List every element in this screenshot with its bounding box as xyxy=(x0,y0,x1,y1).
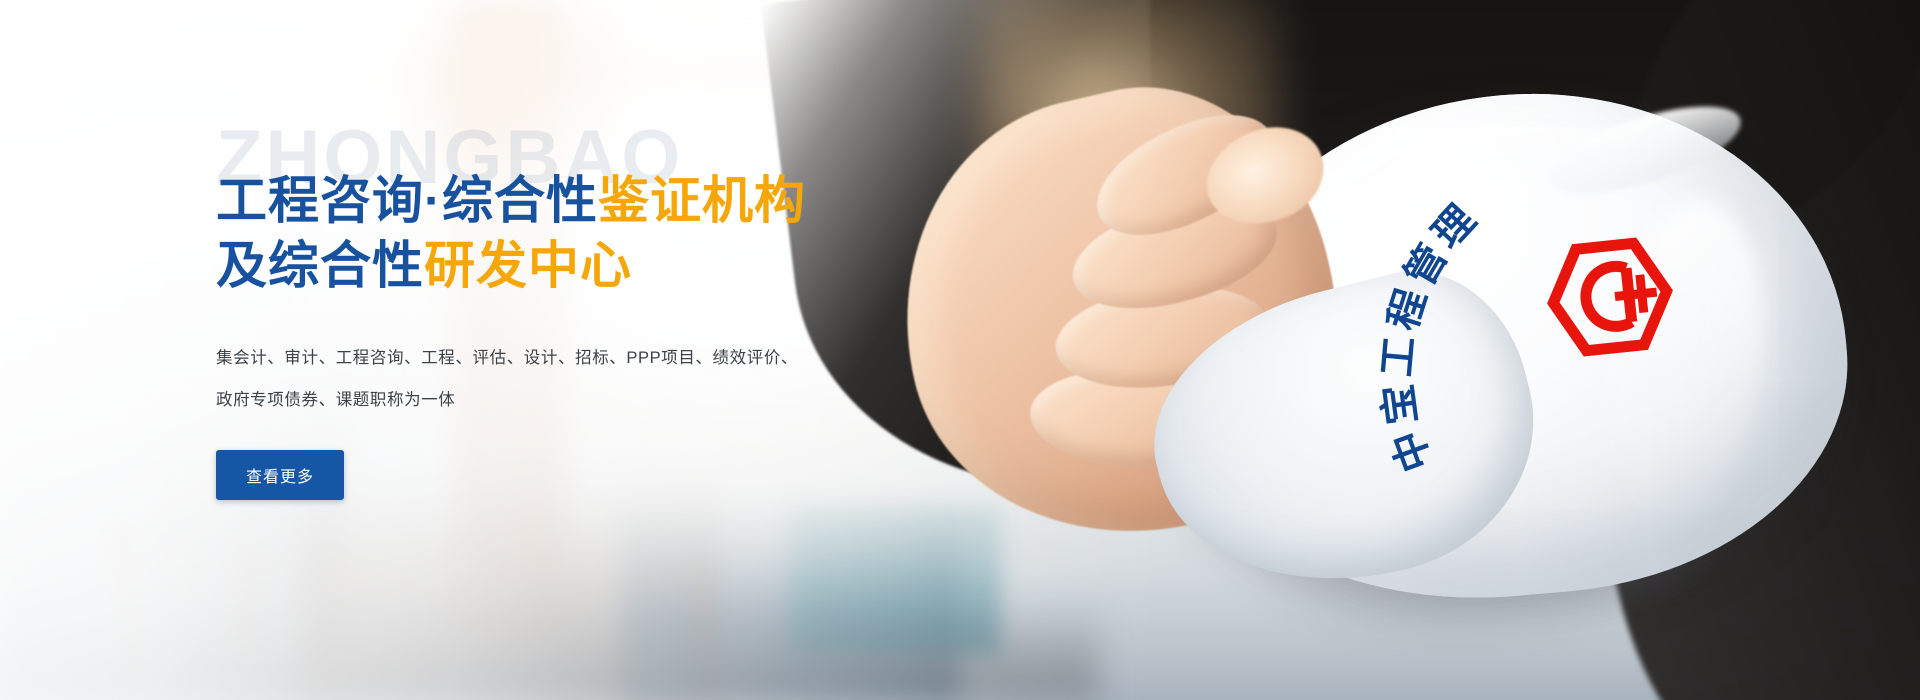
headline-line-1-blue: 工程咨询·综合性 xyxy=(216,172,598,229)
hero-banner: 中宝工程管理 ZHONGBAO 工程咨询·综合性鉴证机构 及综合性研发中心 xyxy=(0,0,1920,700)
headline-line-2-orange: 研发中心 xyxy=(424,237,632,294)
headline-line-2-blue: 及综合性 xyxy=(216,237,424,294)
headline: 工程咨询·综合性鉴证机构 及综合性研发中心 xyxy=(216,168,896,299)
headline-line-2: 及综合性研发中心 xyxy=(216,233,896,298)
svg-text:中宝工程管理: 中宝工程管理 xyxy=(1363,192,1505,479)
subtitle: 集会计、审计、工程咨询、工程、评估、设计、招标、PPP项目、绩效评价、 政府专项… xyxy=(216,337,896,423)
subtitle-line-2: 政府专项债券、课题职称为一体 xyxy=(216,379,896,422)
headline-line-1-orange: 鉴证机构 xyxy=(598,172,806,229)
hero-text-block: ZHONGBAO 工程咨询·综合性鉴证机构 及综合性研发中心 集会计、审计、工程… xyxy=(216,120,896,500)
view-more-button[interactable]: 查看更多 xyxy=(216,450,344,500)
subtitle-line-1: 集会计、审计、工程咨询、工程、评估、设计、招标、PPP项目、绩效评价、 xyxy=(216,337,896,380)
helmet-brand-textpath: 中宝工程管理 xyxy=(1363,192,1505,479)
headline-line-1: 工程咨询·综合性鉴证机构 xyxy=(216,168,896,233)
zhongbao-logo-icon xyxy=(1539,232,1681,363)
